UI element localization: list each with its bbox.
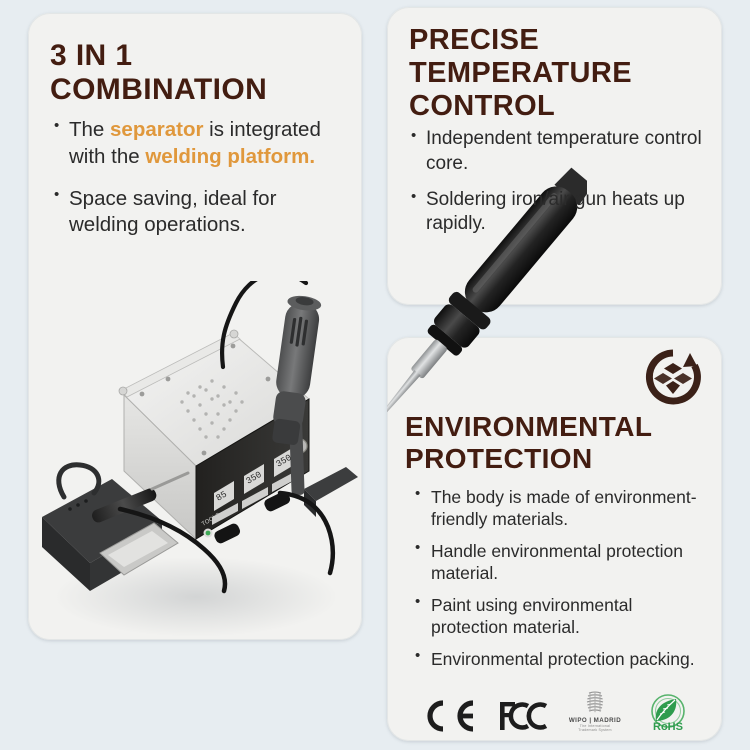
list-item: The body is made of environment-friendly… [415,486,707,530]
ce-mark [419,699,479,733]
temperature-bullet-list: Independent temperature control core. So… [411,127,706,237]
fcc-icon [498,699,550,733]
list-item: Environmental protection packing. [415,648,707,670]
ce-icon [419,699,479,733]
combination-bullet-list: The separator is integrated with the wel… [54,117,339,238]
panel-environmental-protection: ENVIRONMENTAL PROTECTION The body is mad… [387,337,722,741]
infographic-canvas: 3 IN 1 COMBINATION The separator is inte… [0,0,750,750]
combination-heading-line1: 3 IN 1 [50,39,362,73]
temperature-heading-line2: TEMPERATURE [409,57,722,90]
combination-heading-line2: COMBINATION [50,73,362,107]
temperature-heading-line3: CONTROL [409,90,722,123]
svg-text:85: 85 [215,490,229,504]
list-item: Paint using environmental protection mat… [415,594,707,638]
rohs-mark: RoHS [640,693,696,733]
certification-strip: WIPO | MADRID The International Trademar… [387,691,722,733]
wipo-madrid-mark: WIPO | MADRID The International Trademar… [569,691,621,733]
svg-text:350: 350 [275,453,294,470]
temperature-heading: PRECISE TEMPERATURE CONTROL [387,7,722,123]
accent-separator: separator [110,118,203,141]
wipo-globe-icon [582,691,608,715]
list-item: Independent temperature control core. [411,127,706,176]
recycle-package-icon [644,348,702,406]
combination-heading: 3 IN 1 COMBINATION [28,13,362,107]
environmental-heading-line2: PROTECTION [405,443,722,475]
list-item: Soldering iron/air gun heats up rapidly. [411,188,706,237]
environmental-heading-line1: ENVIRONMENTAL [405,411,722,443]
temperature-heading-line1: PRECISE [409,24,722,57]
svg-text:TOOLS: TOOLS [201,512,222,527]
fcc-mark [498,699,550,733]
wipo-label: WIPO | MADRID [569,717,621,724]
environmental-bullet-list: The body is made of environment-friendly… [415,486,707,670]
product-photo-station: 85 350 350 TOOLS [28,281,362,640]
wipo-sublabel: The International Trademark System [578,724,611,733]
list-item: Handle environmental protection material… [415,540,707,584]
svg-text:350: 350 [245,470,264,487]
panel-temperature-control: PRECISE TEMPERATURE CONTROL Independent … [387,7,722,305]
rohs-label: RoHS [653,721,683,733]
panel-combination: 3 IN 1 COMBINATION The separator is inte… [28,13,362,640]
rohs-leaf-icon: RoHS [640,693,696,733]
accent-welding-platform: welding platform. [145,145,315,168]
list-item: The separator is integrated with the wel… [54,117,339,169]
list-item: Space saving, ideal for welding operatio… [54,186,339,238]
